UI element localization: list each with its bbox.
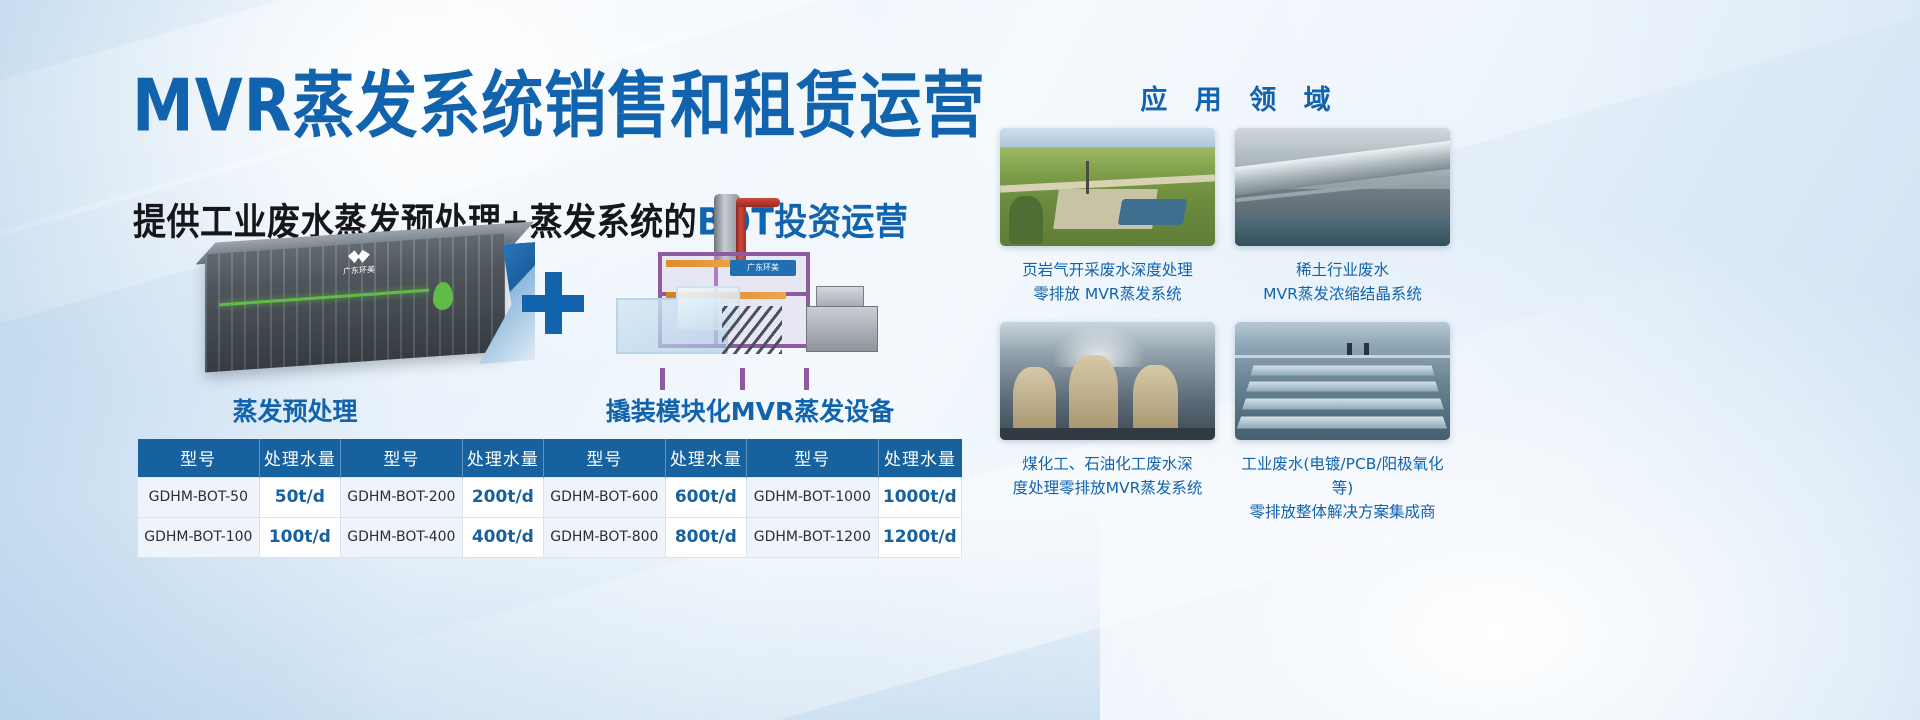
caption-line: 煤化工、石油化工废水深 xyxy=(1000,452,1215,476)
product-caption-skid-mvr: 撬装模块化MVR蒸发设备 xyxy=(560,392,940,428)
table-cell-capacity: 600t/d xyxy=(665,477,746,517)
table-cell-capacity: 400t/d xyxy=(462,517,543,557)
wastewater-basin-photo xyxy=(1235,322,1450,440)
application-card[interactable]: 煤化工、石油化工废水深 度处理零排放MVR蒸发系统 xyxy=(1000,322,1215,524)
caption-line: 工业废水(电镀/PCB/阳极氧化等) xyxy=(1235,452,1450,500)
applications-title: 应 用 领 域 xyxy=(990,78,1490,117)
product-caption-pretreatment: 蒸发预处理 xyxy=(150,392,440,428)
caption-line: 稀土行业废水 xyxy=(1235,258,1450,282)
photo-basin xyxy=(1242,398,1444,409)
photo-drill-rig xyxy=(1086,161,1089,194)
right-column: 应 用 领 域 页岩气开采废水深度处理 零排放 MVR蒸发系统 xyxy=(990,0,1920,720)
caption-line: 零排放整体解决方案集成商 xyxy=(1235,500,1450,524)
table-header-cell: 型号 xyxy=(544,439,666,477)
photo-sky xyxy=(1000,128,1215,147)
table-cell-model: GDHM-BOT-200 xyxy=(341,477,463,517)
table-cell-model: GDHM-BOT-50 xyxy=(138,477,260,517)
brand-logo-label: 广东环美 xyxy=(343,265,375,276)
table-header-cell: 处理水量 xyxy=(462,439,543,477)
photo-treeline xyxy=(1009,196,1043,243)
coal-chemical-plant-photo xyxy=(1000,322,1215,440)
table-cell-model: GDHM-BOT-1000 xyxy=(747,477,879,517)
table-header-cell: 处理水量 xyxy=(878,439,961,477)
brand-mark-icon xyxy=(348,249,370,264)
application-caption: 稀土行业废水 MVR蒸发浓缩结晶系统 xyxy=(1235,258,1450,306)
table-header-cell: 型号 xyxy=(138,439,260,477)
table-row: GDHM-BOT-50 50t/d GDHM-BOT-200 200t/d GD… xyxy=(138,477,962,517)
table-header-row: 型号 处理水量 型号 处理水量 型号 处理水量 型号 处理水量 xyxy=(138,439,962,477)
table-cell-model: GDHM-BOT-400 xyxy=(341,517,463,557)
mvr-red-pipe-top xyxy=(736,198,780,207)
caption-line: 度处理零排放MVR蒸发系统 xyxy=(1000,476,1215,500)
container-unit-icon: 广东环美 xyxy=(205,230,535,380)
mvr-leg xyxy=(740,368,745,390)
photo-worker xyxy=(1347,343,1352,355)
photo-ground xyxy=(1000,428,1215,440)
page-title: MVR蒸发系统销售和租赁运营 xyxy=(132,68,985,144)
applications-row: 煤化工、石油化工废水深 度处理零排放MVR蒸发系统 xyxy=(1000,322,1500,524)
table-header-cell: 型号 xyxy=(747,439,879,477)
caption-line: 页岩气开采废水深度处理 xyxy=(1000,258,1215,282)
photo-basin xyxy=(1237,417,1448,429)
table-cell-capacity: 50t/d xyxy=(259,477,340,517)
spec-table: 型号 处理水量 型号 处理水量 型号 处理水量 型号 处理水量 GDHM-BOT… xyxy=(137,439,962,558)
table-cell-capacity: 200t/d xyxy=(462,477,543,517)
table-cell-model: GDHM-BOT-800 xyxy=(544,517,666,557)
photo-basin xyxy=(1246,381,1438,391)
table-cell-capacity: 100t/d xyxy=(259,517,340,557)
photo-water xyxy=(1235,215,1450,246)
photo-worker xyxy=(1364,343,1369,355)
mvr-equipment-box xyxy=(806,306,878,352)
table-header-cell: 处理水量 xyxy=(665,439,746,477)
rare-earth-pipeline-photo xyxy=(1235,128,1450,246)
photo-pond xyxy=(1118,199,1187,225)
photo-cooling-tower xyxy=(1133,365,1178,433)
mvr-leg xyxy=(804,368,809,390)
table-header-cell: 型号 xyxy=(341,439,463,477)
application-caption: 工业废水(电镀/PCB/阳极氧化等) 零排放整体解决方案集成商 xyxy=(1235,452,1450,524)
caption-line: MVR蒸发浓缩结晶系统 xyxy=(1235,282,1450,306)
table-cell-capacity: 1200t/d xyxy=(878,517,961,557)
table-cell-model: GDHM-BOT-1200 xyxy=(747,517,879,557)
mvr-leg xyxy=(660,368,665,390)
banner-root: MVR蒸发系统销售和租赁运营 提供工业废水蒸发预处理+蒸发系统的BOT投资运营 … xyxy=(0,0,1920,720)
table-cell-capacity: 1000t/d xyxy=(878,477,961,517)
photo-walkway xyxy=(1235,355,1450,358)
application-caption: 煤化工、石油化工废水深 度处理零排放MVR蒸发系统 xyxy=(1000,452,1215,500)
table-header-cell: 处理水量 xyxy=(259,439,340,477)
application-card[interactable]: 工业废水(电镀/PCB/阳极氧化等) 零排放整体解决方案集成商 xyxy=(1235,322,1450,524)
caption-line: 零排放 MVR蒸发系统 xyxy=(1000,282,1215,306)
applications-grid: 页岩气开采废水深度处理 零排放 MVR蒸发系统 稀土行业废水 MVR蒸发浓缩结晶… xyxy=(1000,128,1500,540)
mvr-stair xyxy=(722,306,782,354)
brand-logo: 广东环美 xyxy=(323,247,395,278)
application-caption: 页岩气开采废水深度处理 零排放 MVR蒸发系统 xyxy=(1000,258,1215,306)
application-card[interactable]: 页岩气开采废水深度处理 零排放 MVR蒸发系统 xyxy=(1000,128,1215,306)
left-column: MVR蒸发系统销售和租赁运营 提供工业废水蒸发预处理+蒸发系统的BOT投资运营 … xyxy=(0,0,990,720)
skid-mvr-unit-icon: 广东环美 xyxy=(610,194,910,390)
table-cell-capacity: 800t/d xyxy=(665,517,746,557)
table-cell-model: GDHM-BOT-100 xyxy=(138,517,260,557)
table-cell-model: GDHM-BOT-600 xyxy=(544,477,666,517)
shale-gas-field-photo xyxy=(1000,128,1215,246)
application-card[interactable]: 稀土行业废水 MVR蒸发浓缩结晶系统 xyxy=(1235,128,1450,306)
photo-cooling-tower xyxy=(1013,367,1056,433)
table-row: GDHM-BOT-100 100t/d GDHM-BOT-400 400t/d … xyxy=(138,517,962,557)
container-green-marker xyxy=(433,281,453,310)
photo-cooling-tower xyxy=(1069,355,1118,433)
plus-icon xyxy=(522,272,584,334)
applications-row: 页岩气开采废水深度处理 零排放 MVR蒸发系统 稀土行业废水 MVR蒸发浓缩结晶… xyxy=(1000,128,1500,306)
photo-basin xyxy=(1251,365,1435,375)
brand-logo-label: 广东环美 xyxy=(730,260,796,276)
